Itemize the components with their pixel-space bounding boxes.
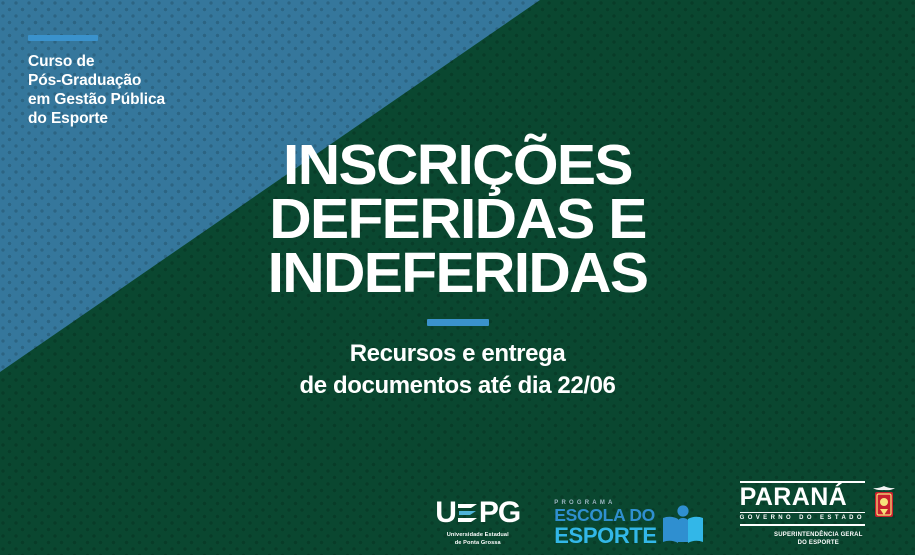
- escola-wordmark: PROGRAMA ESCOLA DO ESPORTE: [554, 500, 656, 547]
- parana-coat-of-arms-icon: [871, 485, 897, 519]
- headline-block: INSCRIÇÕES DEFERIDAS E INDEFERIDAS: [0, 138, 915, 300]
- logo-strip: U PG Universidade Estadual de Ponta Gros…: [435, 479, 897, 547]
- parana-caption: SUPERINTENDÊNCIA GERAL DO ESPORTE: [740, 531, 897, 547]
- course-title: Curso de Pós-Graduação em Gestão Pública…: [28, 53, 288, 129]
- uepg-caption: Universidade Estadual de Ponta Grossa: [435, 532, 520, 547]
- parana-rule-bottom: [740, 524, 865, 526]
- headline-line-1: INSCRIÇÕES: [0, 138, 915, 192]
- uepg-wordmark: U PG: [435, 498, 520, 528]
- uepg-letter-u: U: [435, 498, 456, 528]
- subtitle-divider-wrap: [0, 319, 915, 326]
- course-accent-bar: [28, 35, 98, 41]
- headline-line-3: INDEFERIDAS: [0, 246, 915, 300]
- uepg-letters-pg: PG: [479, 498, 520, 528]
- escola-line-2: ESPORTE: [554, 525, 656, 547]
- logo-uepg: U PG Universidade Estadual de Ponta Gros…: [435, 498, 520, 547]
- parana-wordmark: PARANÁ GOVERNO DO ESTADO: [740, 479, 865, 526]
- open-book-person-icon: [660, 504, 706, 546]
- parana-lockup: PARANÁ GOVERNO DO ESTADO: [740, 479, 897, 526]
- logo-escola-do-esporte: PROGRAMA ESCOLA DO ESPORTE: [554, 500, 705, 547]
- parana-rule-mid: [740, 512, 865, 514]
- escola-line-1: ESCOLA DO: [554, 507, 656, 525]
- poster-canvas: Curso de Pós-Graduação em Gestão Pública…: [0, 0, 915, 555]
- subtitle-text: Recursos e entrega de documentos até dia…: [0, 338, 915, 401]
- logo-parana-governo: PARANÁ GOVERNO DO ESTADO SUPERINTENDÊNCI…: [740, 479, 897, 547]
- subtitle-accent-bar: [427, 319, 489, 326]
- uepg-e-monogram-icon: [457, 500, 478, 526]
- headline-line-2: DEFERIDAS E: [0, 192, 915, 246]
- parana-name: PARANÁ: [740, 485, 865, 510]
- parana-government-label: GOVERNO DO ESTADO: [740, 515, 865, 522]
- course-identifier-block: Curso de Pós-Graduação em Gestão Pública…: [28, 35, 288, 129]
